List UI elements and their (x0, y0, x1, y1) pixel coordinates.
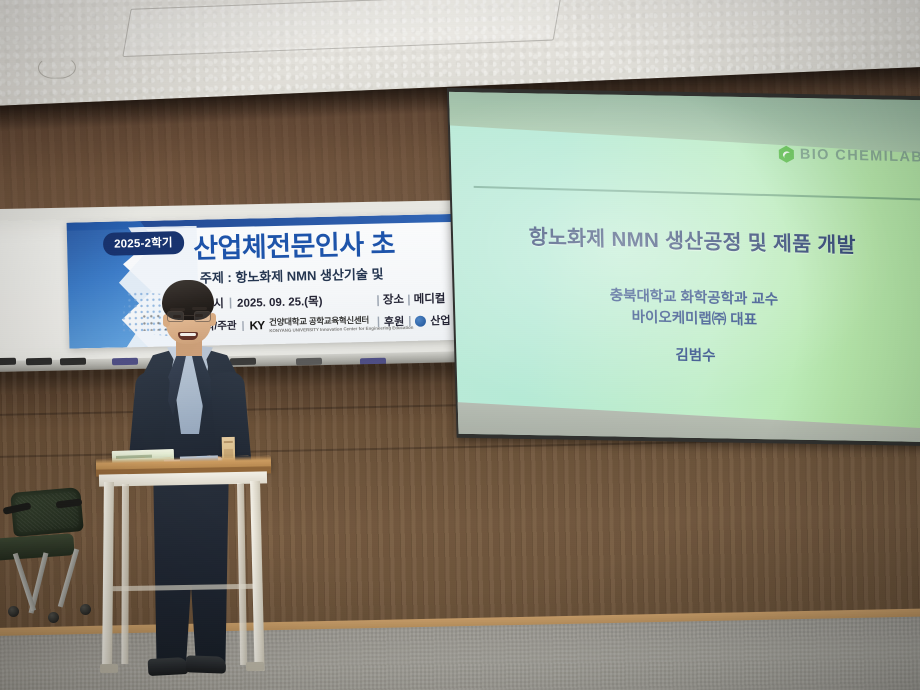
sponsor-emblem-icon (415, 315, 426, 326)
banner-sponsor-row: | 후원 | 산업 (377, 312, 451, 330)
speaker-mouth (178, 332, 198, 340)
chair-backrest (10, 487, 84, 537)
podium-leg-back-left (121, 484, 129, 664)
screen-projector-glow (449, 92, 920, 442)
banner-sponsor-label: 후원 (384, 313, 405, 329)
banner-place-value: 메디컬 (414, 293, 446, 306)
banner-sponsor-sep: | (408, 315, 411, 327)
banner-sponsor-value: 산업 (430, 312, 451, 328)
lecture-hall-photo: 2025-2학기 산업체전문인사 초 주제 : 항노화제 NMN 생산기술 및 … (0, 0, 920, 690)
banner-place-label: 장소 (383, 294, 404, 306)
speaker-trousers (150, 476, 232, 664)
banner-place-bar: | (376, 295, 379, 307)
banner-place-row: | 장소 | 메디컬 (376, 290, 445, 308)
projection-screen: BIO CHEMILAB 항노화제 NMN 생산공정 및 제품 개발 충북대학교… (447, 88, 920, 446)
podium-foot-right (246, 662, 264, 671)
speaker-shoe-left (148, 657, 189, 676)
marker-icon (60, 358, 86, 366)
podium-leg-front-left (102, 482, 114, 670)
banner-place-sep: | (407, 294, 410, 306)
banner-sponsor-bar: | (377, 316, 380, 328)
speaker-brow-right (192, 307, 207, 310)
marker-icon (0, 358, 16, 366)
marker-icon (296, 358, 322, 366)
chair-caster (80, 604, 91, 615)
speaker-eye-left (173, 315, 181, 318)
chair-caster (8, 606, 19, 617)
marker-icon (26, 358, 52, 366)
banner-semester-badge: 2025-2학기 (103, 231, 184, 256)
glasses-bridge (184, 315, 194, 316)
banner-title: 산업체전문인사 초 (193, 222, 396, 266)
speaker-shoe-right (186, 655, 227, 673)
chair-caster (48, 612, 59, 623)
podium-foot-left (100, 664, 118, 673)
speaker-eye-right (195, 314, 203, 317)
projected-slide: BIO CHEMILAB 항노화제 NMN 생산공정 및 제품 개발 충북대학교… (449, 92, 920, 442)
ceiling-vent-icon (38, 56, 76, 79)
